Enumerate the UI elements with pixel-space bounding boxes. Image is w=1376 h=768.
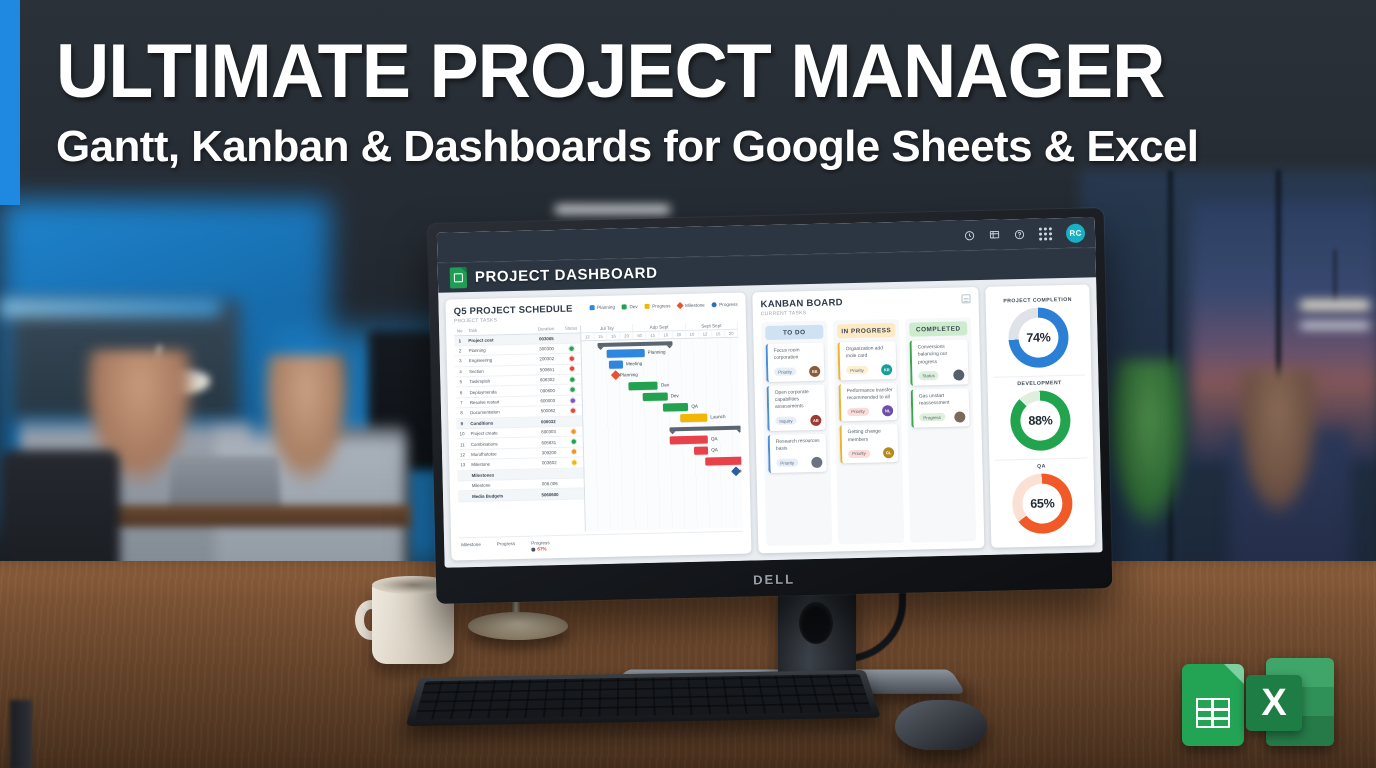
cell-task: Combinations [468, 440, 533, 447]
card-avatar[interactable]: GL [883, 447, 894, 458]
promo-banner: DELL [0, 0, 1376, 768]
gantt-bar-label: Dev [661, 382, 669, 387]
cell-duration [534, 473, 566, 474]
card-avatar[interactable]: AB [810, 415, 821, 426]
card-text: Organization add mole card [846, 345, 892, 361]
cell-no: 8 [456, 411, 467, 416]
table-body: 1Project cost0030052Planning3003003Engin… [454, 333, 584, 502]
status-badge [569, 376, 575, 382]
kanban-header: KANBAN BOARD CURRENT TASKS [760, 294, 970, 317]
cell-task: Section [466, 367, 531, 374]
cell-duration: 690303 [532, 429, 564, 435]
cell-no: 5 [455, 379, 466, 384]
month-label: Jul Tsy [581, 324, 633, 332]
kanban-column-header: IN PROGRESS [837, 323, 895, 338]
cell-duration: 600003 [532, 398, 564, 404]
desk-lamp-base [468, 612, 568, 640]
background-pendant-lamp [1300, 300, 1370, 310]
metric-value: 74% [1026, 330, 1050, 345]
cell-no: 6 [456, 390, 467, 395]
hero-title: ULTIMATE PROJECT MANAGER [56, 36, 1269, 108]
cell-task: Milestone [469, 482, 534, 489]
card-text: Open corporate capabilities assessments [775, 389, 822, 412]
metric-label: PROJECT COMPLETION [1003, 297, 1072, 305]
cell-duration: 200302 [531, 356, 563, 362]
kpi-value: 67% [537, 546, 546, 551]
kanban-column-header: TO DO [765, 325, 823, 340]
gantt-bar[interactable] [670, 435, 708, 443]
cell-task: Taskmplsh [466, 378, 531, 385]
gantt-bar-label: QA [711, 436, 718, 441]
gantt-header: Q5 PROJECT SCHEDULE PROJECT TASKS Planni… [454, 300, 738, 325]
cell-duration: 605631 [533, 439, 565, 445]
gantt-task-table: No Task Duration Status 1Project cost003… [454, 325, 585, 533]
cell-task: Documentation [467, 409, 532, 416]
cell-status [565, 439, 583, 445]
table-row[interactable]: Media Budgets5060600 [458, 489, 584, 502]
kpi-label: Milestone [461, 541, 481, 546]
kanban-columns: TO DOFocus room corporationPriorityEBOpe… [761, 317, 976, 546]
kanban-card[interactable]: Gas unstart reassessmentProgress [911, 388, 970, 427]
day-label: 12 [581, 333, 594, 340]
page-title: PROJECT DASHBOARD [475, 265, 658, 286]
gantt-footer-kpis: Milestone Progress Progress 67% [459, 530, 743, 553]
card-footer: PriorityNL [847, 406, 893, 418]
card-avatar[interactable]: KR [881, 364, 892, 375]
cell-status [563, 387, 581, 393]
metric-value: 88% [1028, 413, 1052, 428]
card-text: Performance transfer recommended to all [847, 387, 893, 403]
card-text: Conversions balancing our progress [918, 343, 965, 366]
legend-item: Progress [712, 302, 738, 308]
card-footer: Priority [776, 456, 822, 468]
card-pill: Priority [847, 408, 869, 417]
cell-duration: 500062 [532, 408, 564, 414]
status-badge [569, 366, 575, 372]
kanban-column: TO DOFocus room corporationPriorityEBOpe… [761, 321, 832, 546]
kpi-milestone: Milestone [461, 541, 481, 553]
card-footer: PriorityKR [846, 364, 892, 376]
kpi-value-row: 67% [531, 546, 550, 551]
hero-headline: ULTIMATE PROJECT MANAGER Gantt, Kanban &… [56, 36, 1306, 172]
gantt-bar[interactable] [694, 446, 708, 454]
cell-no: 3 [455, 359, 466, 364]
day-label: 10 [686, 331, 699, 338]
monitor-stand-cable-hole [799, 602, 833, 644]
gantt-bar[interactable] [628, 382, 658, 390]
card-pill: Status [918, 372, 939, 381]
gantt-bar[interactable] [663, 403, 688, 411]
card-footer: Progress [919, 411, 965, 423]
metric-label: DEVELOPMENT [1017, 380, 1062, 387]
gantt-bar[interactable] [607, 349, 645, 357]
gantt-bar-label: QA [711, 447, 718, 452]
cell-task: Deploymenda [467, 388, 532, 395]
card-pill: Progress [919, 413, 945, 422]
cell-no: 7 [456, 400, 467, 405]
cell-status [564, 407, 582, 413]
metric-qa: QA65% [995, 458, 1089, 541]
gantt-bar[interactable] [642, 392, 667, 400]
cell-task: Media Budgets [469, 492, 534, 499]
apps-grid-icon[interactable] [1039, 227, 1052, 240]
cell-status [563, 366, 581, 372]
donut-chart: 74% [1008, 307, 1069, 368]
month-label: Sept Sept [686, 322, 738, 330]
day-label: 20 [620, 332, 633, 339]
excel-letter: X [1261, 684, 1286, 722]
legend-item: Planning [590, 305, 616, 311]
kanban-card[interactable]: Open corporate capabilities assessmentsI… [767, 384, 826, 430]
cell-duration: 000032 [532, 419, 564, 425]
cell-task: Project create [468, 430, 533, 437]
kanban-title: KANBAN BOARD [760, 297, 842, 310]
kanban-card[interactable]: Getting change membersPriorityGL [839, 424, 898, 463]
card-text: Getting change members [848, 429, 894, 445]
project-dashboard-app: RC PROJECT DASHBOARD Q5 PROJECT SCHEDULE… [437, 217, 1103, 567]
cell-duration: 5060600 [534, 491, 566, 497]
cell-status [563, 376, 581, 382]
background-light-strip [0, 300, 220, 316]
card-avatar[interactable]: NL [882, 406, 893, 417]
day-label: 16 [660, 331, 673, 338]
day-label: 12 [699, 330, 712, 337]
kpi-label: Progress [531, 540, 550, 545]
day-label: 20 [725, 330, 738, 337]
cell-task: Milestone [468, 461, 533, 468]
card-footer: PriorityEB [774, 366, 820, 378]
cell-task: Milestones [468, 471, 533, 478]
cell-status [563, 345, 581, 351]
day-label: 15 [712, 330, 725, 337]
card-avatar[interactable] [811, 456, 822, 467]
status-badge [570, 397, 576, 403]
google-sheets-logo [1182, 664, 1244, 746]
kanban-column-header: COMPLETED [909, 321, 967, 336]
cell-task: Project cost [465, 336, 530, 343]
cell-duration: 003005 [530, 336, 562, 342]
card-pill: Priority [846, 366, 868, 375]
cell-task: Planning [466, 347, 531, 354]
kanban-column: IN PROGRESSOrganization add mole cardPri… [833, 319, 904, 544]
status-badge [571, 459, 577, 465]
kanban-column: COMPLETEDConversions balancing our progr… [905, 317, 976, 542]
microsoft-excel-logo: X [1246, 658, 1334, 746]
keyboard [406, 670, 881, 726]
gantt-bar[interactable] [705, 457, 743, 465]
background-meeting-table [80, 505, 410, 527]
presentation-icon[interactable] [989, 229, 1000, 240]
card-footer: InquiryAB [775, 415, 821, 427]
kpi-progress: Progress [497, 541, 516, 553]
gantt-summary-bar [597, 341, 672, 347]
cell-task: Engineering [466, 357, 531, 364]
card-text: Research resources basis [776, 438, 822, 454]
donut-chart: 65% [1012, 473, 1073, 534]
hero-subtitle: Gantt, Kanban & Dashboards for Google Sh… [56, 122, 1306, 172]
cell-no: 4 [455, 369, 466, 374]
cell-no: 12 [457, 452, 468, 457]
avatar[interactable]: RC [1066, 223, 1085, 242]
card-text: Focus room corporation [774, 347, 820, 363]
gantt-summary-bar [670, 426, 742, 432]
col-status: Status [562, 325, 580, 330]
cell-no: 2 [455, 348, 466, 353]
kanban-card[interactable]: Performance transfer recommended to allP… [839, 383, 898, 422]
ceiling-light [555, 205, 670, 214]
help-icon[interactable] [1014, 228, 1025, 239]
gantt-bar-label: Dev [671, 393, 679, 398]
gantt-legend: Planning Dev Progress Milestone Progress [590, 302, 738, 310]
dashboard-body: Q5 PROJECT SCHEDULE PROJECT TASKS Planni… [438, 277, 1102, 567]
cell-duration: 090600 [532, 388, 564, 394]
monitor: DELL [428, 208, 1113, 604]
col-duration: Duration [530, 326, 562, 332]
gantt-bar[interactable] [680, 413, 707, 421]
cell-status [565, 449, 583, 455]
card-pill: Priority [774, 368, 796, 377]
card-pill: Priority [848, 449, 870, 458]
cell-duration: 309200 [533, 450, 565, 456]
status-badge [569, 387, 575, 393]
donut-chart: 88% [1010, 390, 1071, 451]
kanban-panel: KANBAN BOARD CURRENT TASKS TO DOFocus ro… [752, 287, 984, 553]
card-footer: Status [918, 369, 964, 381]
day-label: 16 [607, 333, 620, 340]
gantt-bar[interactable] [609, 360, 623, 368]
gantt-bar-label: Planning [648, 349, 666, 354]
kanban-card[interactable]: Organization add mole cardPriorityKR [838, 341, 897, 380]
history-icon[interactable] [964, 230, 975, 241]
desk-leg [10, 700, 32, 768]
legend-item: Dev [622, 304, 638, 309]
day-label: 20 [673, 331, 686, 338]
cell-task: Resolve restart [467, 399, 532, 406]
cell-no: 9 [456, 421, 467, 426]
cell-task: Morofhototse [468, 451, 533, 458]
cell-duration: 606302 [531, 377, 563, 383]
gantt-bar-label: Launch [710, 414, 725, 419]
kanban-card[interactable]: Research resources basisPriority [768, 433, 827, 472]
day-label: 15 [647, 332, 660, 339]
google-sheets-icon [450, 267, 467, 288]
metric-development: DEVELOPMENT88% [993, 375, 1087, 458]
cell-duration: 006.006 [534, 481, 566, 487]
cell-no: 10 [457, 431, 468, 436]
cell-no: 13 [457, 462, 468, 467]
mouse [895, 700, 987, 750]
gantt-bars: PlanningMeetingPlanningDevDevQALaunchQAQ… [581, 340, 742, 531]
card-avatar[interactable] [953, 369, 964, 380]
cell-status [564, 428, 582, 434]
day-label: 15 [594, 333, 607, 340]
metrics-panel: PROJECT COMPLETION74%DEVELOPMENT88%QA65% [985, 284, 1095, 547]
status-badge [570, 407, 576, 413]
card-avatar[interactable]: EB [809, 366, 820, 377]
gantt-panel: Q5 PROJECT SCHEDULE PROJECT TASKS Planni… [445, 293, 751, 561]
day-label: 50 [634, 332, 647, 339]
metric-value: 65% [1030, 496, 1054, 511]
board-view-icon[interactable] [961, 294, 970, 303]
cell-duration: 003602 [533, 460, 565, 466]
kanban-card[interactable]: Conversions balancing our progressStatus [910, 339, 969, 385]
background-plant [1108, 360, 1188, 530]
gantt-bar-label: Meeting [626, 361, 642, 366]
card-footer: PriorityGL [848, 447, 894, 459]
cell-no: 11 [457, 442, 468, 447]
cell-status [565, 459, 583, 465]
cell-status [563, 355, 581, 361]
cell-no: 1 [454, 338, 465, 343]
legend-item: Milestone [677, 303, 704, 309]
status-badge [571, 439, 577, 445]
status-badge [570, 428, 576, 434]
status-badge [569, 345, 575, 351]
background-pendant-cord [1334, 250, 1336, 302]
gantt-bar-label: Milestones [740, 468, 743, 474]
kpi-progress-pct: Progress 67% [531, 540, 550, 552]
card-text: Gas unstart reassessment [919, 392, 965, 408]
cell-status [564, 397, 582, 403]
cell-duration: 500651 [531, 367, 563, 373]
ceiling-light [1300, 322, 1370, 329]
kpi-label: Progress [497, 541, 516, 546]
cell-task: Conditions [467, 419, 532, 426]
metric-label: QA [1037, 464, 1046, 470]
cell-duration: 300300 [531, 346, 563, 352]
gantt-bar-label: Planning [620, 372, 638, 377]
metric-project-completion: PROJECT COMPLETION74% [991, 293, 1085, 375]
status-badge [571, 449, 577, 455]
status-badge [569, 356, 575, 362]
col-task: Task [465, 327, 530, 334]
kanban-card[interactable]: Focus room corporationPriorityEB [766, 343, 825, 382]
accent-bar [0, 0, 20, 205]
card-pill: Priority [776, 458, 798, 467]
monitor-screen: RC PROJECT DASHBOARD Q5 PROJECT SCHEDULE… [437, 217, 1103, 567]
col-no: No [454, 328, 465, 333]
legend-item: Progress [645, 303, 671, 309]
card-pill: Inquiry [775, 417, 796, 426]
month-label: Adp Sept [633, 323, 685, 331]
gantt-bar-label: QA [691, 404, 698, 409]
kanban-subtitle: CURRENT TASKS [761, 309, 843, 317]
app-logos: X [1182, 658, 1334, 746]
gantt-main: No Task Duration Status 1Project cost003… [454, 322, 743, 534]
card-avatar[interactable] [954, 411, 965, 422]
gantt-chart[interactable]: Jul Tsy Adp Sept Sept Sept 1215162050151… [580, 322, 743, 531]
